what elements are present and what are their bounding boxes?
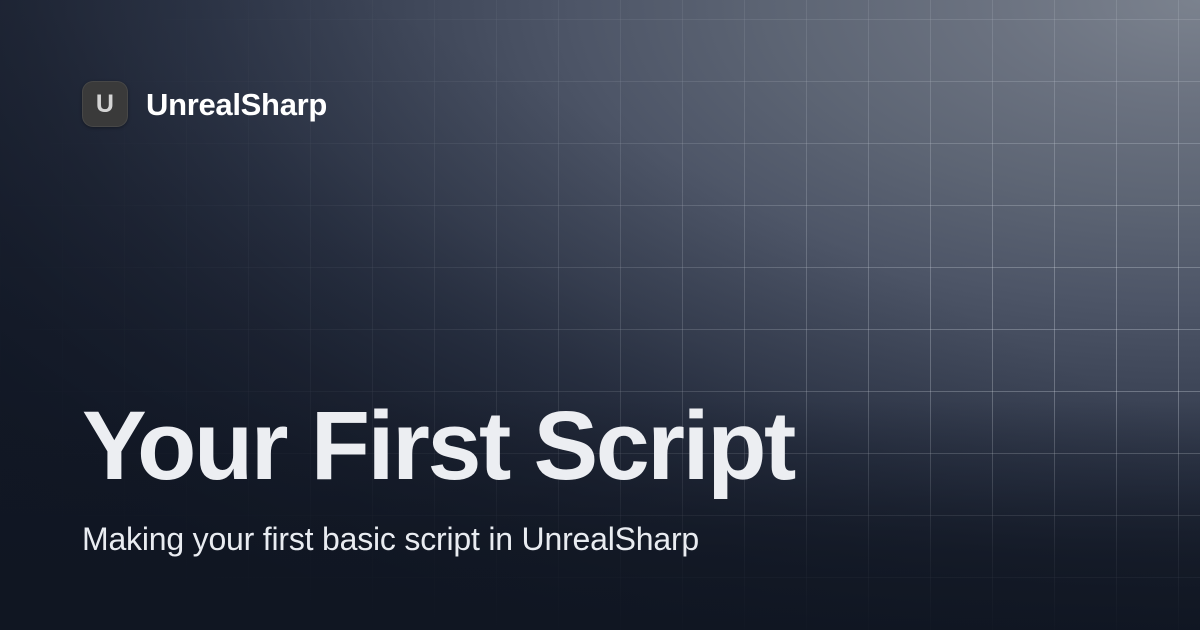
og-social-card: U UnrealSharp Your First Script Making y…: [0, 0, 1200, 630]
brand-name: UnrealSharp: [146, 89, 327, 120]
page-subtitle: Making your first basic script in Unreal…: [82, 520, 1120, 558]
brand-lockup: U UnrealSharp: [82, 81, 327, 127]
logo-letter: U: [96, 92, 114, 117]
hero-text-block: Your First Script Making your first basi…: [82, 397, 1120, 558]
page-title: Your First Script: [82, 397, 1120, 494]
unrealsharp-logo-icon: U: [82, 81, 128, 127]
